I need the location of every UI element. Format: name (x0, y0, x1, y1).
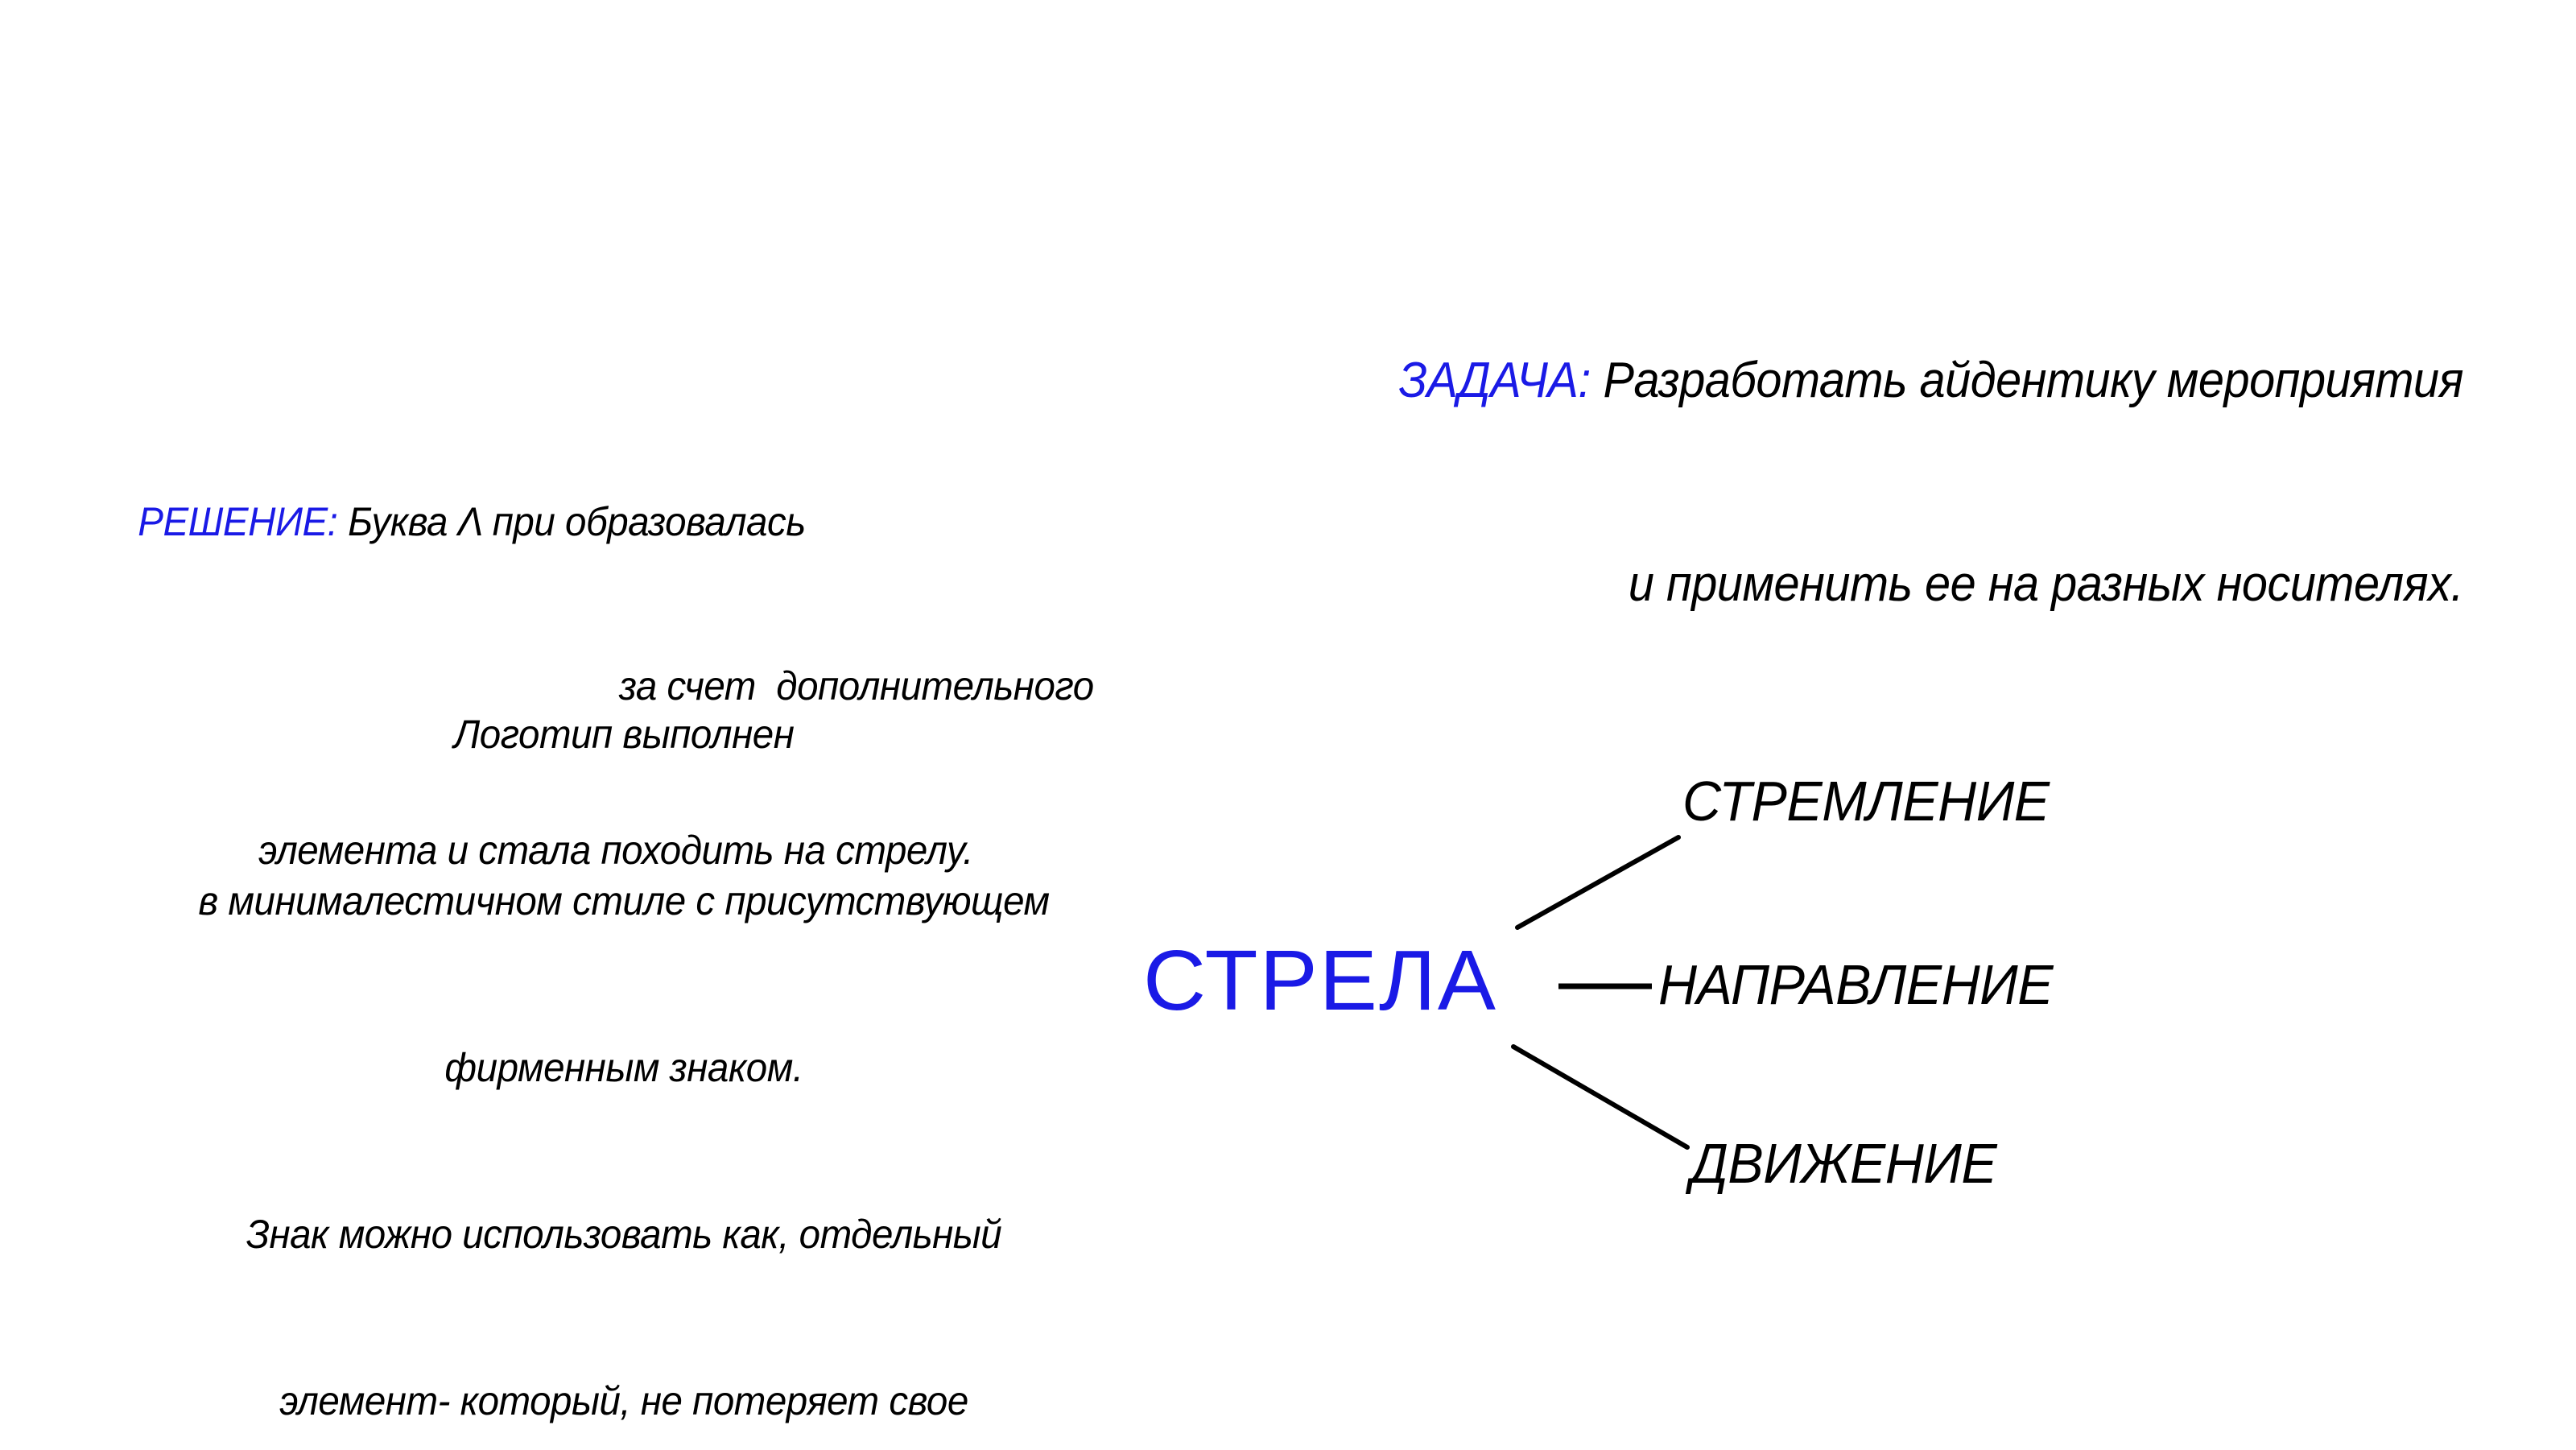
connector-line-movement (1513, 1047, 1687, 1147)
logo-note-line-4: Знак можно использовать как, отдельный (123, 1207, 1125, 1262)
solution-label: РЕШЕНИЕ: (138, 499, 337, 544)
connector-line-aspiration (1517, 837, 1678, 927)
mindmap-branch-movement: ДВИЖЕНИЕ (1690, 1135, 1996, 1192)
mindmap-branch-aspiration: СТРЕМЛЕНИЕ (1682, 773, 2050, 829)
logo-note-line-1: Логотип выполнен (123, 707, 1125, 762)
logo-note-line-3: фирменным знаком. (123, 1040, 1125, 1096)
solution-line-1: РЕШЕНИЕ: Буква Λ при образовалась (138, 494, 1094, 549)
brand-concept-mindmap: СТРЕЛА СТРЕМЛЕНИЕ НАПРАВЛЕНИЕ ДВИЖЕНИЕ (1111, 757, 2367, 1175)
slide-canvas: ЗАДАЧА: Разработать айдентику мероприяти… (0, 0, 2576, 1450)
logo-note-line-5: элемент- который, не потеряет свое (123, 1374, 1125, 1429)
logo-note-line-2: в минималестичном стиле с присутствующем (123, 874, 1125, 929)
solution-line-1-text: Буква Λ при образовалась (337, 499, 805, 544)
mindmap-branch-direction: НАПРАВЛЕНИЕ (1658, 956, 2053, 1013)
mindmap-center-node: СТРЕЛА (1143, 938, 1497, 1023)
task-label: ЗАДАЧА: (1398, 353, 1590, 408)
logo-note-text-block: Логотип выполнен в минималестичном стиле… (123, 596, 1125, 1450)
task-line-1-text: Разработать айдентику мероприятия (1591, 353, 2463, 408)
